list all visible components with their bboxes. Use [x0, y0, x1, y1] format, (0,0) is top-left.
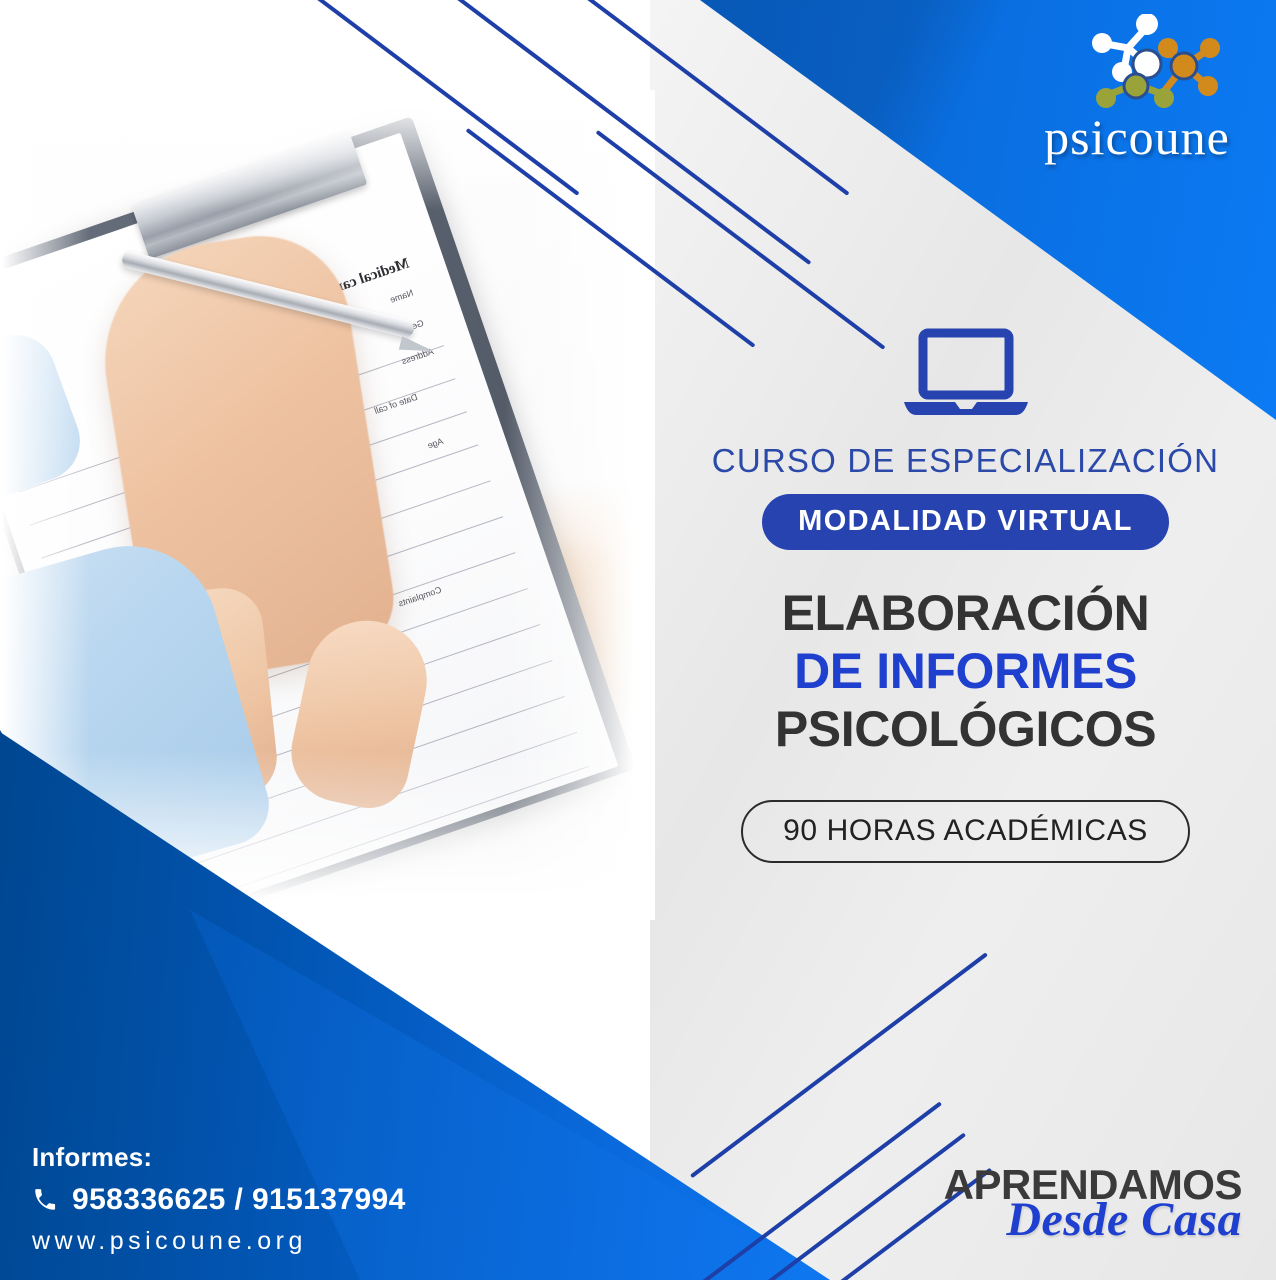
title-line-3: PSICOLÓGICOS [775, 700, 1156, 758]
laptop-icon [902, 328, 1030, 420]
page-title: ELABORACIÓN DE INFORMES PSICOLÓGICOS [775, 584, 1156, 758]
promotional-poster: Medical card Name Date of birth Gender A… [0, 0, 1276, 1280]
course-kicker: CURSO DE ESPECIALIZACIÓN [712, 442, 1219, 480]
contact-phone-row[interactable]: 958336625 / 915137994 [32, 1183, 406, 1217]
title-line-1: ELABORACIÓN [775, 584, 1156, 642]
contact-phones: 958336625 / 915137994 [72, 1183, 406, 1217]
tagline: APRENDAMOS Desde Casa [922, 1164, 1242, 1244]
modality-badge: MODALIDAD VIRTUAL [762, 494, 1169, 550]
contact-block: Informes: 958336625 / 915137994 www.psic… [32, 1142, 406, 1256]
contact-website[interactable]: www.psicoune.org [32, 1227, 406, 1256]
hero-photo: Medical card Name Date of birth Gender A… [0, 90, 655, 920]
contact-label: Informes: [32, 1142, 406, 1173]
title-line-2: DE INFORMES [775, 642, 1156, 700]
content-column: CURSO DE ESPECIALIZACIÓN MODALIDAD VIRTU… [655, 0, 1276, 1280]
phone-icon [32, 1187, 58, 1213]
hours-badge: 90 HORAS ACADÉMICAS [741, 800, 1190, 863]
